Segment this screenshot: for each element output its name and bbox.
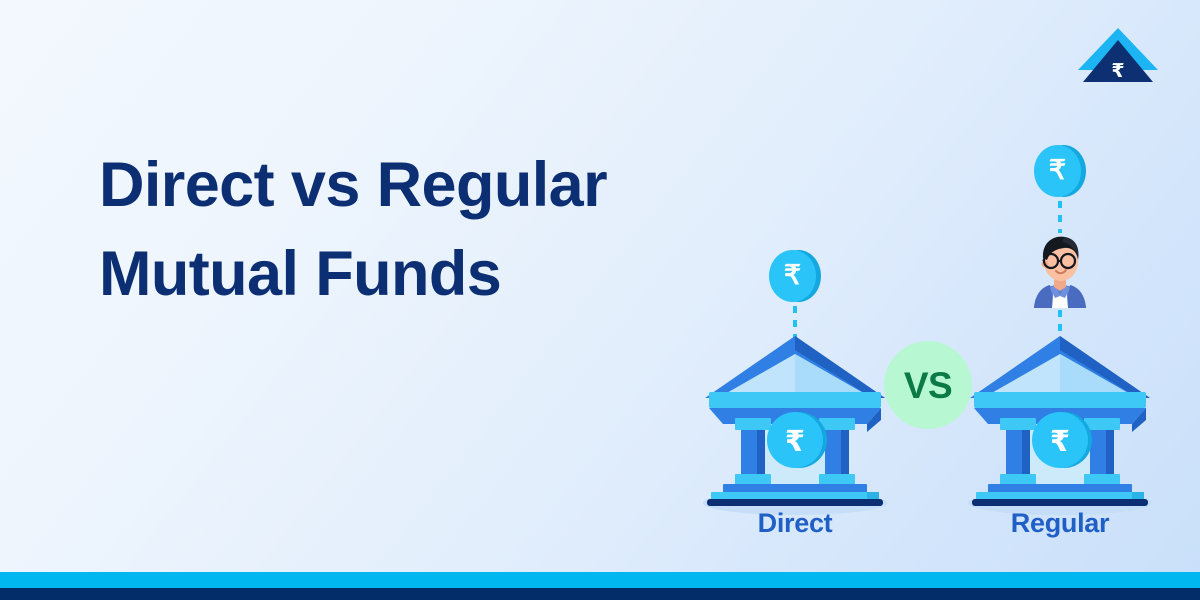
vs-badge: VS xyxy=(884,341,972,429)
banner-root: ₹ Direct vs Regular Mutual Funds ₹ xyxy=(0,0,1200,600)
bank-label-direct: Direct xyxy=(680,508,910,539)
column-regular: ₹ xyxy=(945,120,1175,560)
page-title: Direct vs Regular Mutual Funds xyxy=(99,141,739,319)
title-line-1: Direct vs Regular xyxy=(99,141,739,230)
svg-text:₹: ₹ xyxy=(785,424,805,458)
column-direct: ₹ xyxy=(680,120,910,560)
rupee-arrow-logo[interactable]: ₹ xyxy=(1074,26,1162,84)
svg-text:₹: ₹ xyxy=(1050,424,1070,458)
advisor-avatar xyxy=(1020,230,1100,310)
coin-direct: ₹ xyxy=(769,250,821,302)
footer-bar-cyan xyxy=(0,572,1200,588)
coin-rupee-symbol: ₹ xyxy=(784,262,801,289)
logo-icon: ₹ xyxy=(1074,26,1162,84)
footer-bar-navy xyxy=(0,588,1200,600)
coin-regular: ₹ xyxy=(1034,145,1086,197)
bank-icon: ₹ xyxy=(962,332,1158,522)
dash-connector-regular-top xyxy=(1058,201,1062,233)
bank-direct: ₹ xyxy=(697,332,893,522)
bank-icon: ₹ xyxy=(697,332,893,522)
advisor-icon xyxy=(1020,230,1100,310)
bank-label-regular: Regular xyxy=(945,508,1175,539)
coin-face: ₹ xyxy=(769,250,816,302)
title-line-2: Mutual Funds xyxy=(99,230,739,319)
coin-face: ₹ xyxy=(1034,145,1081,197)
svg-text:₹: ₹ xyxy=(1111,60,1124,82)
comparison-illustration: ₹ xyxy=(660,120,1200,560)
bank-regular: ₹ xyxy=(962,332,1158,522)
coin-rupee-symbol: ₹ xyxy=(1049,157,1066,184)
vs-badge-label: VS xyxy=(904,367,952,404)
